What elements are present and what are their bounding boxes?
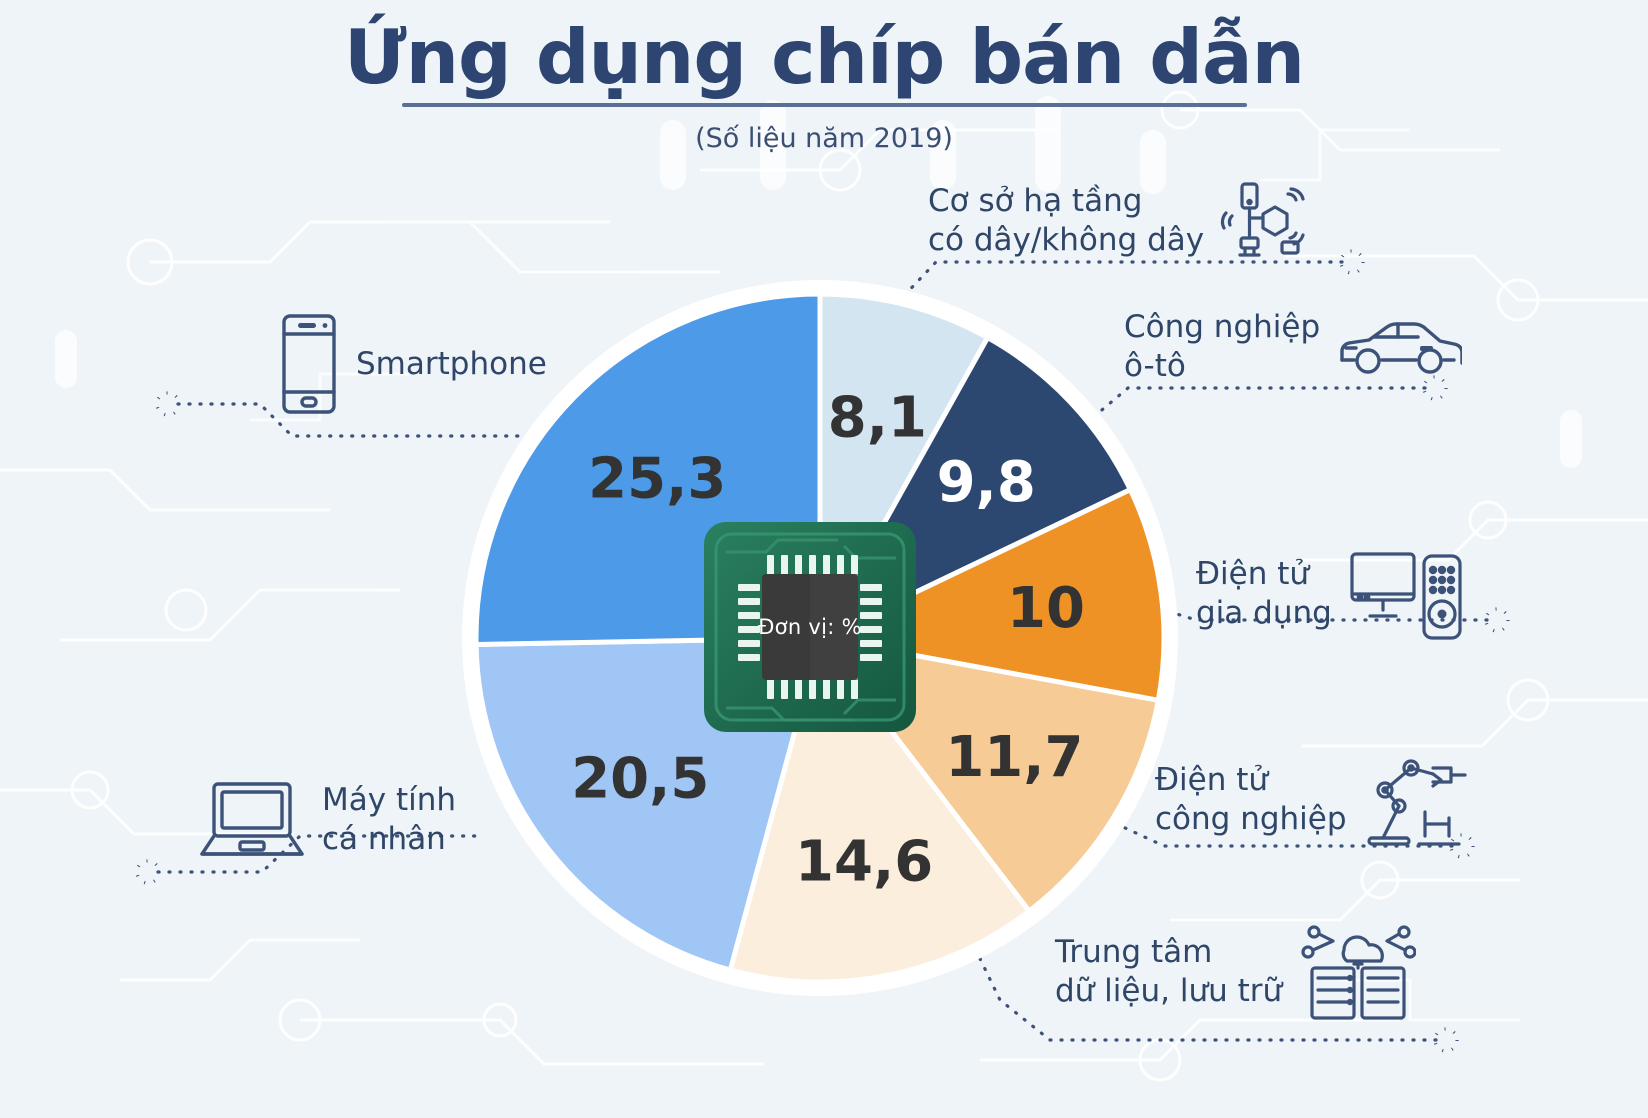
- callout-infrastructure[interactable]: Cơ sở hạ tầng có dây/không dây: [928, 180, 1306, 262]
- chip-icon: [700, 518, 920, 736]
- laptop-icon: [198, 778, 306, 862]
- leader-dot-smartphone: [157, 393, 179, 415]
- title-underline: [402, 103, 1247, 107]
- callout-smartphone[interactable]: Smartphone: [278, 312, 547, 416]
- page-subtitle: (Số liệu năm 2019): [0, 123, 1648, 154]
- callout-pc-label: Máy tính cá nhân: [322, 781, 456, 859]
- callout-industrial[interactable]: Điện tử công nghiệp: [1155, 752, 1473, 848]
- callout-datacenter[interactable]: Trung tâm dữ liệu, lưu trữ: [1055, 920, 1416, 1024]
- leader-dot-consumer: [1486, 609, 1508, 631]
- callout-automotive-label: Công nghiệp ô-tô: [1124, 308, 1320, 386]
- callout-consumer[interactable]: Điện tử gia dụng: [1196, 546, 1468, 642]
- callout-industrial-label: Điện tử công nghiệp: [1155, 761, 1347, 839]
- network-wireless-icon: [1220, 180, 1306, 262]
- cloud-server-icon: [1298, 920, 1416, 1024]
- robot-arm-icon: [1363, 752, 1473, 848]
- tv-remote-icon: [1348, 546, 1468, 642]
- car-icon: [1336, 314, 1462, 380]
- pie-slice-value: 25,3: [588, 446, 726, 511]
- pie-slice-value: 14,6: [795, 830, 933, 895]
- pie-slice-value: 9,8: [937, 450, 1036, 515]
- pie-slice-value: 10: [1007, 576, 1085, 641]
- callout-consumer-label: Điện tử gia dụng: [1196, 555, 1332, 633]
- header: Ứng dụng chíp bán dẫn (Số liệu năm 2019): [0, 0, 1648, 154]
- callout-infrastructure-label: Cơ sở hạ tầng có dây/không dây: [928, 182, 1204, 260]
- smartphone-icon: [278, 312, 340, 416]
- callout-automotive[interactable]: Công nghiệp ô-tô: [1124, 308, 1462, 386]
- leader-dot-pc: [137, 861, 159, 883]
- leader-dot-datacenter: [1435, 1029, 1457, 1051]
- center-chip-graphic: Đơn vị: %: [700, 518, 920, 736]
- leader-dot-infrastructure: [1341, 251, 1363, 273]
- pie-slice-value: 20,5: [571, 746, 709, 811]
- pie-slice-value: 11,7: [945, 725, 1083, 790]
- callout-datacenter-label: Trung tâm dữ liệu, lưu trữ: [1055, 933, 1282, 1011]
- page-title: Ứng dụng chíp bán dẫn: [0, 18, 1648, 97]
- callout-pc[interactable]: Máy tính cá nhân: [198, 778, 456, 862]
- pie-slice-value: 8,1: [828, 385, 927, 450]
- callout-smartphone-label: Smartphone: [356, 345, 547, 384]
